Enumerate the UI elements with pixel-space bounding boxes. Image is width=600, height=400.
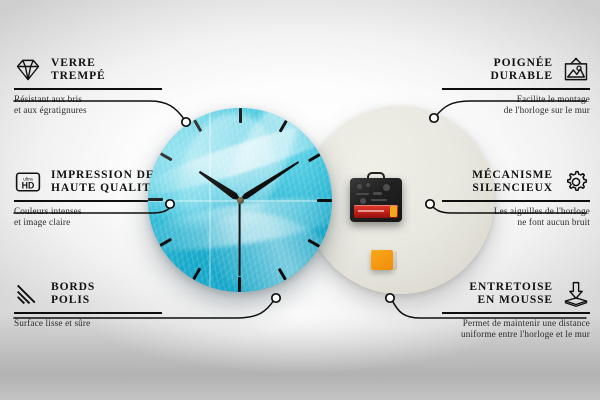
wire-poignee [436, 101, 586, 116]
wire-mecanisme [432, 206, 586, 213]
marker-dot-mecanisme [426, 200, 434, 208]
marker-dot-entretoise [386, 294, 394, 302]
marker-dot-verre [182, 118, 190, 126]
wire-bords [14, 300, 274, 318]
marker-dot-impression [166, 200, 174, 208]
infographic-canvas: VERRE TREMPÉ Résistant aux bris et aux é… [0, 0, 600, 400]
wire-verre [14, 101, 184, 119]
marker-dot-poignee [430, 114, 438, 122]
wire-entretoise [392, 300, 586, 318]
wire-impression [14, 206, 172, 213]
connector-lines [0, 0, 600, 400]
marker-dot-bords [272, 294, 280, 302]
